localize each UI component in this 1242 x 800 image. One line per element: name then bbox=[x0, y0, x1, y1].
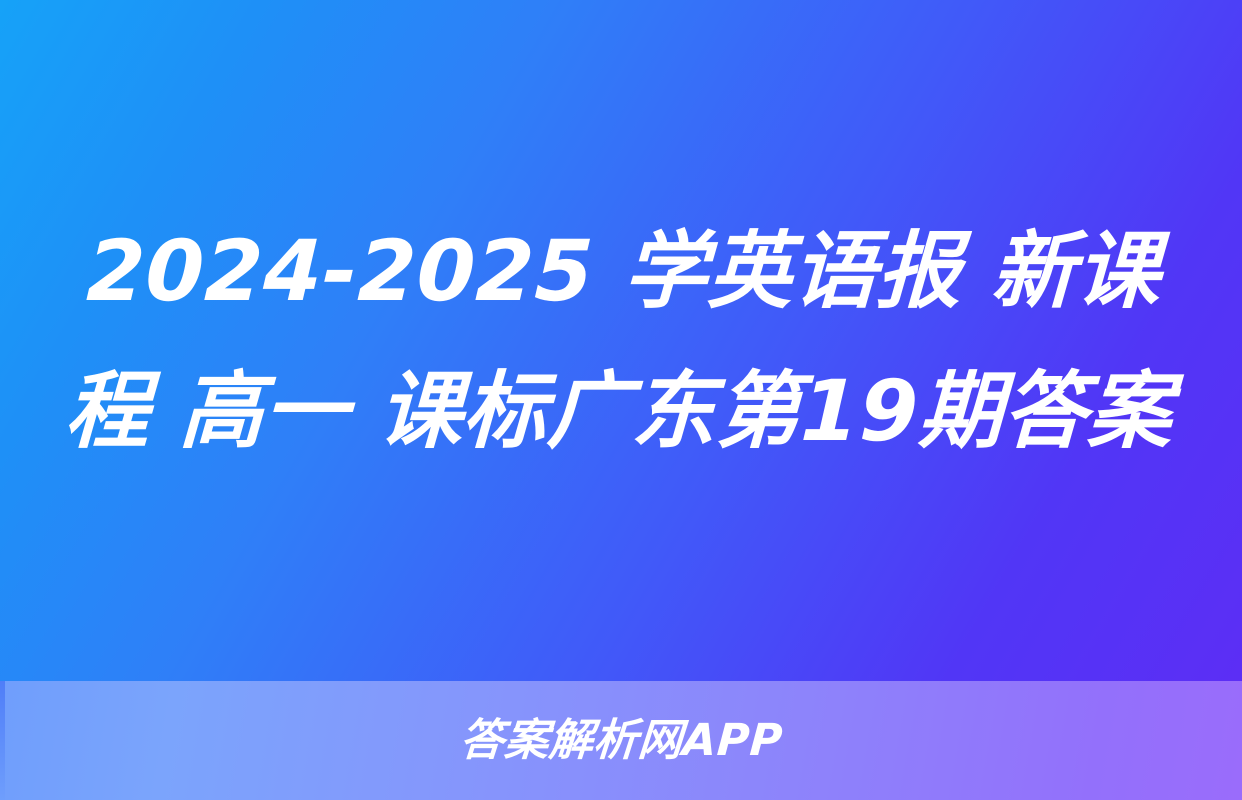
page-title: 2024-2025 学英语报 新课程 高一 课标广东第19期答案 bbox=[59, 201, 1183, 481]
footer-band: 答案解析网APP bbox=[0, 681, 1242, 800]
watermark-brand-label: 答案解析网APP bbox=[458, 717, 784, 765]
hero-banner: 2024-2025 学英语报 新课程 高一 课标广东第19期答案 bbox=[0, 0, 1242, 681]
footer-edge-accent bbox=[0, 681, 5, 800]
answer-poster: 2024-2025 学英语报 新课程 高一 课标广东第19期答案 答案解析网AP… bbox=[0, 0, 1242, 800]
